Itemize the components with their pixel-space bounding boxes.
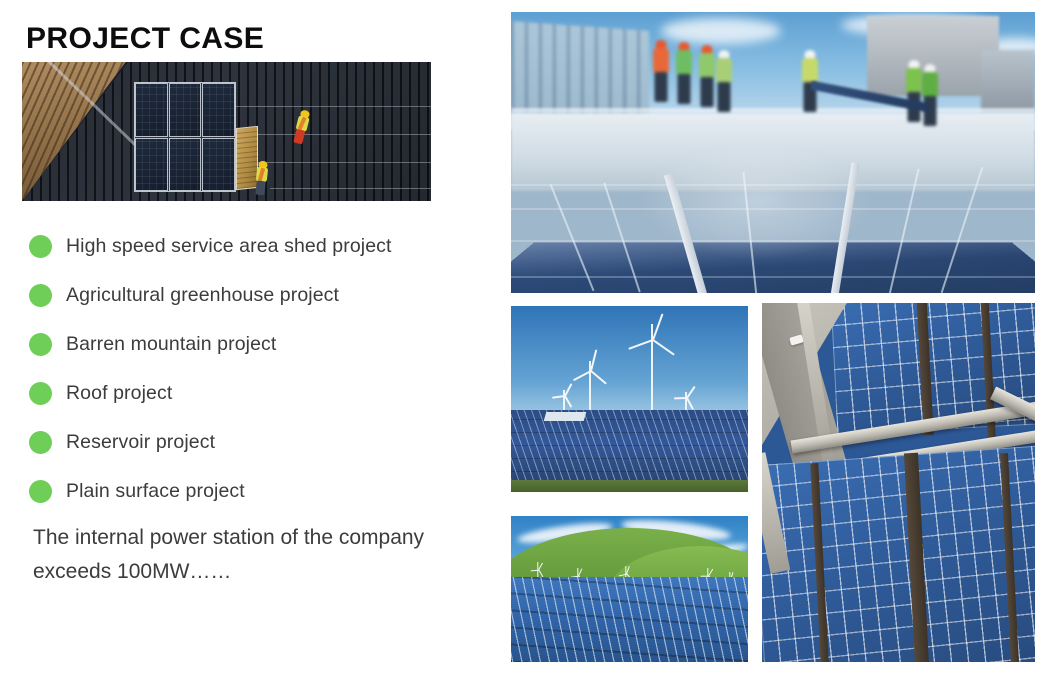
wind-turbine-icon (579, 361, 601, 413)
list-item-label: Agricultural greenhouse project (66, 284, 339, 307)
bullet-dot-icon (29, 382, 52, 405)
panel-grid-line (511, 184, 1035, 186)
bullet-dot-icon (29, 480, 52, 503)
roof-seam (244, 134, 431, 135)
list-item: Barren mountain project (29, 320, 479, 369)
page-title: PROJECT CASE (26, 22, 264, 56)
photo-roof-install (22, 62, 431, 201)
solar-panel-array (134, 82, 236, 192)
background-building (981, 50, 1035, 112)
project-type-list: High speed service area shed project Agr… (29, 222, 479, 516)
rooftop-shed (544, 412, 587, 421)
roof-seam (232, 106, 431, 107)
safety-vest (653, 48, 669, 74)
worker-figure (919, 64, 941, 122)
worker-figure (714, 50, 734, 108)
sky (511, 306, 748, 414)
safety-vest (716, 58, 732, 84)
worker-legs (678, 74, 691, 104)
solar-panel-field (511, 410, 748, 485)
list-item-label: Barren mountain project (66, 333, 276, 356)
solar-array-block (762, 445, 1035, 662)
bullet-dot-icon (29, 284, 52, 307)
bullet-dot-icon (29, 431, 52, 454)
worker-figure (674, 42, 694, 104)
solar-panel-module (135, 138, 168, 192)
slide-root: PROJECT CASE (0, 0, 1060, 689)
safety-vest (699, 53, 715, 79)
photo-wind-solar-farm (511, 306, 748, 492)
turbine-blade (564, 396, 572, 408)
worker-legs (718, 82, 731, 112)
solar-panel-module (169, 83, 202, 137)
safety-vest (802, 58, 818, 84)
panel-grid-line (511, 276, 1035, 278)
list-item: High speed service area shed project (29, 222, 479, 271)
list-item-label: Plain surface project (66, 480, 245, 503)
list-item: Reservoir project (29, 418, 479, 467)
bullet-dot-icon (29, 333, 52, 356)
photo-hillside-solar (511, 516, 748, 662)
worker-legs (655, 72, 668, 102)
solar-panel-rows (511, 577, 748, 662)
worker-legs (255, 180, 265, 195)
list-item: Roof project (29, 369, 479, 418)
roof-deck (511, 113, 1035, 191)
solar-panel-module (202, 138, 235, 192)
photo-rooftop-crew (511, 12, 1035, 293)
worker-figure (651, 40, 671, 104)
safety-vest (922, 72, 938, 98)
photo-aerial-rooftop-array (762, 303, 1035, 662)
list-item-label: Reservoir project (66, 431, 215, 454)
list-item: Agricultural greenhouse project (29, 271, 479, 320)
bullet-dot-icon (29, 235, 52, 258)
list-item-label: High speed service area shed project (66, 235, 392, 258)
wind-turbine-icon (639, 324, 665, 412)
turbine-blade (686, 398, 694, 410)
worker-legs (701, 77, 714, 107)
solar-panel-module (202, 83, 235, 137)
roof-seam (258, 162, 431, 163)
left-content-panel: PROJECT CASE (0, 0, 500, 689)
worker-legs (293, 129, 305, 145)
safety-vest (676, 50, 692, 76)
closing-note: The internal power station of the compan… (33, 521, 453, 589)
roof-seam (270, 188, 431, 189)
solar-panel-module (135, 83, 168, 137)
list-item: Plain surface project (29, 467, 479, 516)
cloud (661, 18, 781, 44)
list-item-label: Roof project (66, 382, 172, 405)
turbine-blade (538, 570, 543, 578)
solar-panel-module (169, 138, 202, 192)
grass-strip (511, 480, 748, 492)
panel-grid-line (511, 208, 1035, 210)
